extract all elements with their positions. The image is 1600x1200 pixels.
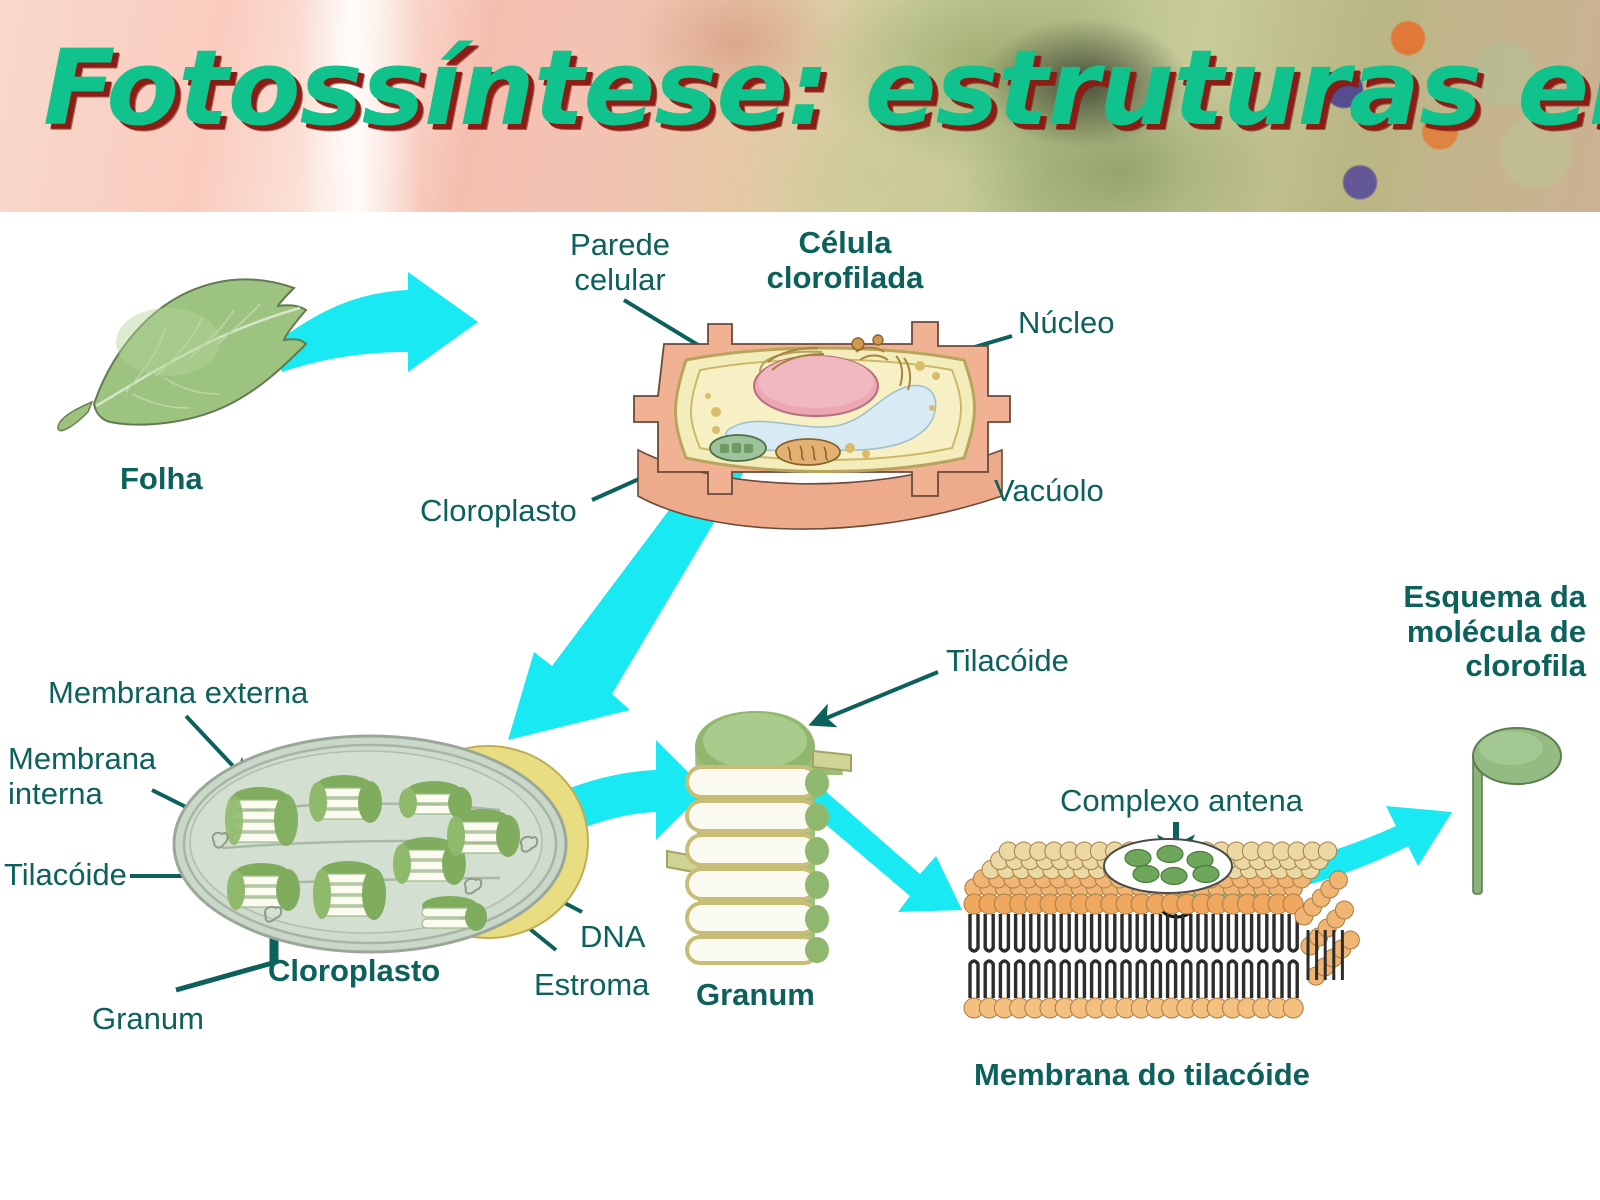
label-folha: Folha: [120, 462, 280, 497]
slide-canvas: Fotossíntese: estruturas envolvidas: [0, 0, 1600, 1200]
head-highlight: [1479, 731, 1543, 765]
vesicle: [873, 335, 883, 345]
title-banner: Fotossíntese: estruturas envolvidas: [0, 0, 1600, 212]
lamella-right: [813, 751, 851, 771]
thylakoid-discs: [687, 767, 817, 963]
chlorophyll-molecule-illustration: [1455, 718, 1565, 898]
chloroplast-illustration: [170, 718, 590, 968]
label-membrana-interna: Membrana interna: [8, 742, 228, 811]
label-cloroplasto-cell: Cloroplasto: [420, 494, 640, 529]
golgi-vesicle: [852, 338, 864, 350]
leaf-petiole: [58, 402, 92, 431]
page-title: Fotossíntese: estruturas envolvidas: [43, 34, 1573, 143]
mitochondrion: [776, 439, 840, 465]
label-esquema-clorofila: Esquema da molécula de clorofila: [1260, 580, 1586, 684]
label-granum: Granum: [696, 978, 936, 1013]
leaf-highlight: [116, 308, 220, 376]
label-tilacoide-chloroplast: Tilacóide: [4, 858, 234, 893]
label-membrana-externa: Membrana externa: [48, 676, 408, 711]
leaf-illustration: [48, 252, 348, 462]
label-tilacoide-granum: Tilacóide: [946, 644, 1186, 679]
thylakoid-membrane-illustration: [960, 830, 1360, 1040]
nucleus-highlight: [758, 356, 874, 408]
granum-illustration: [665, 705, 875, 965]
label-celula-clorofilada: Célula clorofilada: [730, 226, 960, 295]
membrane-lipid-tails: [970, 914, 1297, 998]
label-granum-chloroplast: Granum: [92, 1002, 322, 1037]
membrane-side-heads: [1295, 871, 1359, 985]
chloroplast-grana: [720, 443, 753, 453]
antenna-complex: [1104, 839, 1232, 893]
membrane-lower-heads: [964, 998, 1303, 1018]
granum-top-highlight: [703, 713, 807, 769]
membrane-upper-heads: [964, 894, 1303, 914]
label-cloroplasto: Cloroplasto: [268, 954, 548, 989]
plant-cell-illustration: [620, 300, 1020, 570]
label-vacuolo: Vacúolo: [994, 474, 1214, 509]
phytol-tail: [1473, 754, 1482, 894]
label-membrana-do-tilacoide: Membrana do tilacóide: [974, 1058, 1394, 1093]
label-nucleo: Núcleo: [1018, 306, 1238, 341]
label-parede-celular: Parede celular: [520, 228, 720, 297]
label-complexo-antena: Complexo antena: [1060, 784, 1390, 819]
